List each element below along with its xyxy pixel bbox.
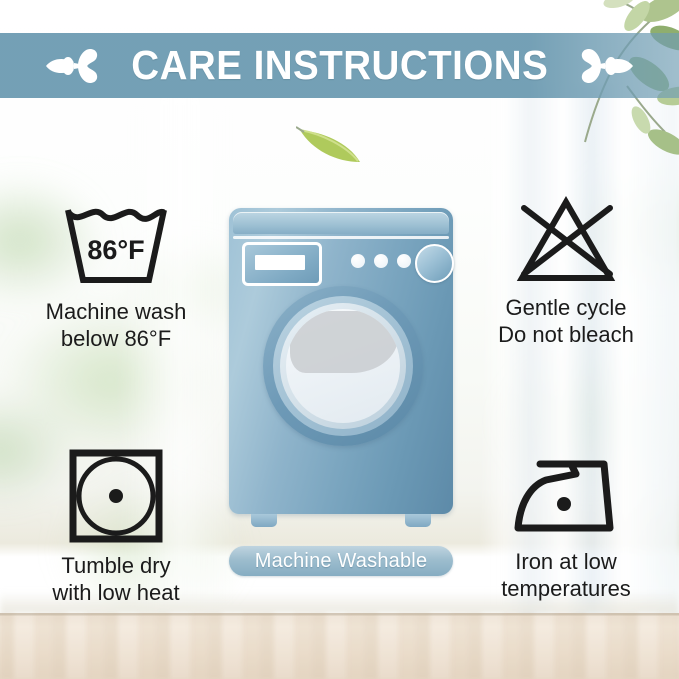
care-symbol-machine-wash: 86°F Machine wash below 86°F bbox=[10, 196, 222, 352]
wash-temperature-label: 86°F bbox=[87, 235, 144, 265]
header-banner: CARE INSTRUCTIONS bbox=[0, 33, 679, 98]
care-symbol-caption: Machine wash below 86°F bbox=[10, 298, 222, 352]
care-symbol-iron-low: Iron at low temperatures bbox=[460, 452, 672, 602]
care-symbol-caption: Iron at low temperatures bbox=[460, 548, 672, 602]
washer-door-glass bbox=[286, 309, 400, 423]
detergent-drawer-slot bbox=[255, 255, 305, 270]
washer-foot-right bbox=[405, 514, 431, 527]
washer-foot-left bbox=[251, 514, 277, 527]
indicator-dot bbox=[397, 254, 411, 268]
triangle-crossed-out-icon bbox=[460, 192, 672, 288]
washer-panel-divider bbox=[233, 236, 449, 239]
care-symbol-caption: Gentle cycle Do not bleach bbox=[460, 294, 672, 348]
machine-washable-badge: Machine Washable bbox=[229, 546, 453, 576]
care-symbol-do-not-bleach: Gentle cycle Do not bleach bbox=[460, 192, 672, 348]
tumble-dry-low-icon bbox=[10, 446, 222, 546]
machine-washable-badge-label: Machine Washable bbox=[255, 550, 428, 573]
iron-one-dot-icon bbox=[460, 452, 672, 542]
washer-indicator-dots bbox=[351, 254, 411, 268]
detergent-drawer bbox=[242, 242, 322, 286]
washer-program-dial bbox=[415, 244, 454, 283]
wooden-table-surface bbox=[0, 613, 679, 679]
wash-tub-icon: 86°F bbox=[10, 196, 222, 292]
indicator-dot bbox=[374, 254, 388, 268]
care-instructions-infographic: CARE INSTRUCTIONS bbox=[0, 0, 679, 679]
page-title: CARE INSTRUCTIONS bbox=[131, 42, 548, 89]
fleur-de-lis-ornament-left bbox=[44, 45, 102, 87]
fleur-de-lis-ornament-right bbox=[577, 45, 635, 87]
washer-top-panel bbox=[233, 212, 449, 234]
care-symbol-caption: Tumble dry with low heat bbox=[10, 552, 222, 606]
floating-leaf-decoration bbox=[296, 122, 366, 166]
washing-machine-illustration bbox=[229, 208, 453, 533]
indicator-dot bbox=[351, 254, 365, 268]
washer-door-reflection bbox=[290, 311, 398, 373]
care-symbol-tumble-dry: Tumble dry with low heat bbox=[10, 446, 222, 606]
